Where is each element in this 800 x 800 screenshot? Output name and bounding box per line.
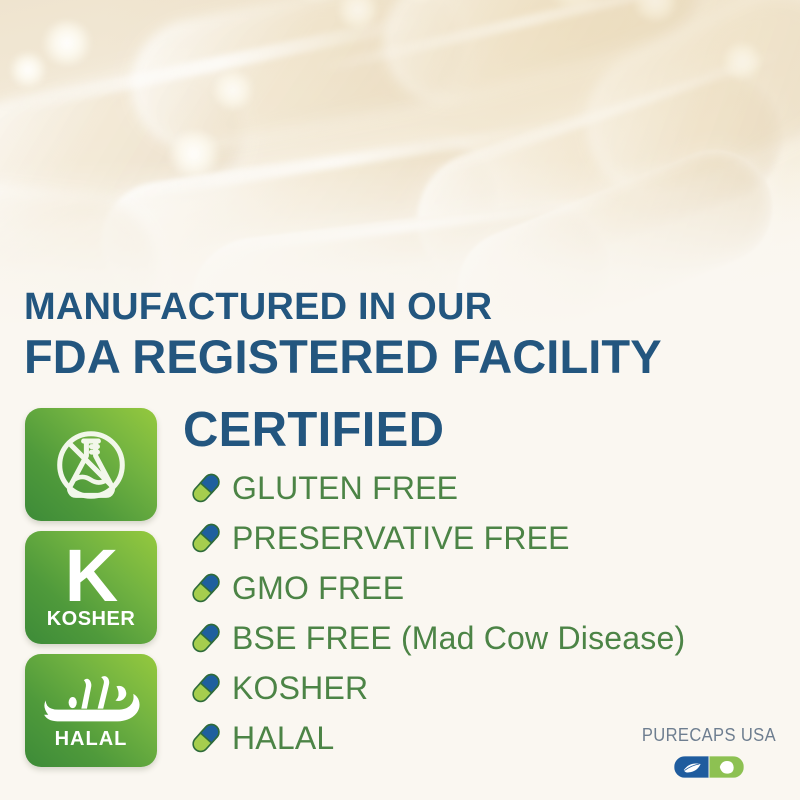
list-item: PRESERVATIVE FREE <box>186 513 685 563</box>
capsule-pill-icon <box>186 568 226 608</box>
list-item: GLUTEN FREE <box>186 463 685 513</box>
halal-arabic-icon <box>39 672 143 728</box>
list-item: BSE FREE (Mad Cow Disease) <box>186 613 685 663</box>
kosher-mark: K KOSHER <box>47 546 136 630</box>
list-item: GMO FREE <box>186 563 685 613</box>
list-item-label: PRESERVATIVE FREE <box>232 520 570 557</box>
list-item-label: HALAL <box>232 720 334 757</box>
list-item-label: BSE FREE (Mad Cow Disease) <box>232 620 685 657</box>
badge-halal: HALAL <box>25 654 157 767</box>
badge-kosher-label: KOSHER <box>47 609 136 629</box>
badge-kosher: K KOSHER <box>25 531 157 644</box>
list-item: HALAL <box>186 713 685 763</box>
certification-badge-column: K KOSHER <box>25 408 157 777</box>
capsule-pill-icon <box>186 668 226 708</box>
capsule-leaf-logo-icon <box>673 752 745 782</box>
capsule-pill-icon <box>186 518 226 558</box>
product-marketing-poster: MANUFACTURED IN OUR FDA REGISTERED FACIL… <box>0 0 800 800</box>
brand-name-text: PURECAPS USA <box>642 725 776 746</box>
capsule-pill-icon <box>186 718 226 758</box>
capsule-pill-icon <box>186 618 226 658</box>
kosher-k-icon: K <box>65 546 117 607</box>
headline-line-1: MANUFACTURED IN OUR <box>24 288 662 328</box>
badge-no-chemicals <box>25 408 157 521</box>
list-item: KOSHER <box>186 663 685 713</box>
list-item-label: GMO FREE <box>232 570 404 607</box>
headline-line-2: FDA REGISTERED FACILITY <box>24 332 662 381</box>
list-item-label: KOSHER <box>232 670 368 707</box>
capsule-background-photo <box>0 0 800 330</box>
brand-logo: PURECAPS USA <box>636 725 782 782</box>
headline-block: MANUFACTURED IN OUR FDA REGISTERED FACIL… <box>24 288 662 381</box>
capsule-pill-icon <box>186 468 226 508</box>
no-chemicals-flask-icon <box>45 419 137 511</box>
list-item-label: GLUTEN FREE <box>232 470 458 507</box>
halal-mark: HALAL <box>39 672 143 749</box>
certification-list: GLUTEN FREE PRESERVATIVE FREE GMO FREE <box>186 463 685 763</box>
certified-heading: CERTIFIED <box>183 406 444 455</box>
badge-halal-label: HALAL <box>55 729 128 749</box>
